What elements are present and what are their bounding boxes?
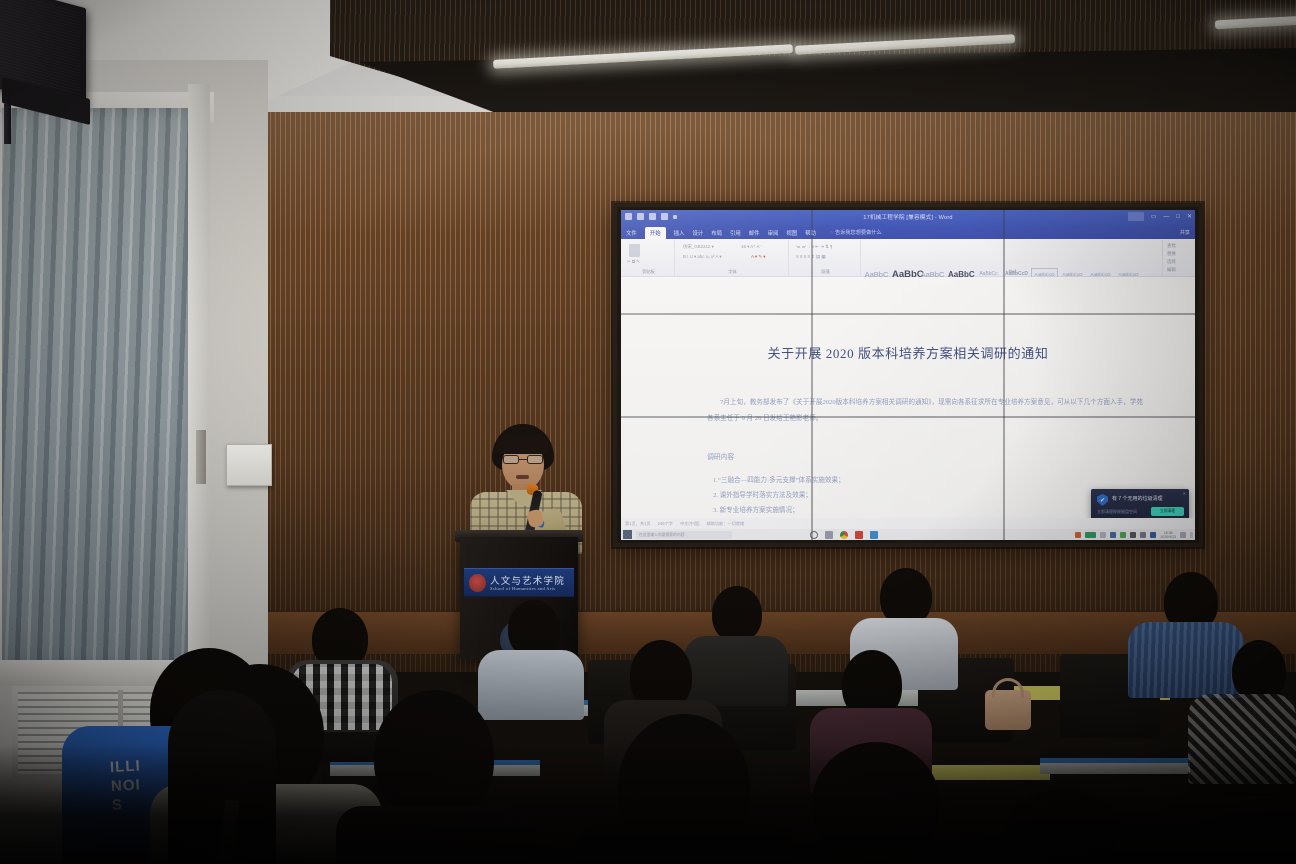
store-icon[interactable] bbox=[870, 531, 878, 539]
tab-view[interactable]: 视图 bbox=[786, 229, 797, 237]
toast-title: 有 7 个无用的垃圾清理 bbox=[1112, 495, 1163, 502]
font-name-box[interactable]: 仿宋_GB2312 ▾ bbox=[683, 244, 714, 250]
audience-white-shirt bbox=[478, 650, 584, 720]
toast-subtitle: 立即清理释放磁盘空间 bbox=[1097, 509, 1137, 515]
tab-review[interactable]: 审阅 bbox=[768, 229, 779, 237]
banner-chinese-text: 人文与艺术学院 bbox=[490, 573, 565, 587]
tell-me-search[interactable]: ◌ 告诉我您想要做什么 bbox=[830, 229, 882, 236]
bezel-seam-v2 bbox=[1003, 210, 1005, 540]
ribbon-tab-strip[interactable]: 文件 开始 插入 设计 布局 引用 邮件 审阅 视图 帮助 ◌ 告诉我您想要做什… bbox=[621, 226, 1195, 239]
accessibility-status[interactable]: 辅助功能：一切就绪 bbox=[707, 521, 745, 527]
tab-mailings[interactable]: 邮件 bbox=[749, 229, 760, 237]
taskbar-search-input[interactable]: 在这里输入你要搜索的内容 bbox=[636, 531, 732, 539]
system-tray[interactable]: 15:36 2020/9/23 bbox=[1075, 531, 1193, 539]
chevron-up-icon[interactable] bbox=[1100, 532, 1106, 538]
presenter-mouth bbox=[516, 475, 529, 479]
banner-english-text: School of Humanities and Arts bbox=[490, 586, 555, 591]
notification-toast[interactable]: ✔ 有 7 个无用的垃圾清理 立即清理释放磁盘空间 立即清理 ✕ bbox=[1091, 489, 1189, 520]
doc-section-heading: 调研内容 bbox=[707, 451, 734, 461]
list-item: 3. 新专业培养方案实施情况； bbox=[713, 503, 845, 518]
wall-notice-panel bbox=[226, 444, 272, 486]
word-count[interactable]: 246个字 bbox=[658, 521, 673, 527]
doc-heading: 关于开展 2020 版本科培养方案相关调研的通知 bbox=[621, 343, 1195, 362]
word-title-bar: 17机械工程学院 [兼容模式] - Word ▭ — □ ✕ bbox=[621, 210, 1195, 226]
speaker-mount-arm bbox=[4, 104, 11, 144]
bezel-seam-h1 bbox=[621, 313, 1195, 315]
presenter-fringe bbox=[496, 434, 550, 454]
doc-paragraph: 7月上旬，教务部发布了《关于开展2020版本科培养方案相关调研的通知》，现需向各… bbox=[707, 395, 1143, 426]
group-label-font: 字体 bbox=[677, 269, 788, 275]
audience-head bbox=[712, 586, 762, 642]
font-size-box[interactable]: 16 ▾ A⁺ A⁻ bbox=[741, 244, 762, 250]
show-desktop-button[interactable] bbox=[1190, 532, 1193, 538]
tab-file[interactable]: 文件 bbox=[626, 229, 637, 237]
video-wall-screen[interactable]: 17机械工程学院 [兼容模式] - Word ▭ — □ ✕ 文件 开始 插入 … bbox=[621, 210, 1195, 540]
windows-taskbar[interactable]: 在这里输入你要搜索的内容 15:36 2020/9/23 bbox=[621, 529, 1195, 540]
find-button[interactable]: 查找 bbox=[1167, 243, 1176, 249]
bezel-seam-h2 bbox=[621, 416, 1195, 418]
tab-home[interactable]: 开始 bbox=[645, 227, 666, 239]
podium-banner: 人文与艺术学院 School of Humanities and Arts bbox=[464, 568, 574, 597]
network-icon[interactable] bbox=[1130, 532, 1136, 538]
volume-icon[interactable] bbox=[1140, 532, 1146, 538]
foreground-shadow bbox=[0, 744, 1296, 864]
ribbon-group-paragraph[interactable]: ≔ ≕ ⋮≡ ⇤ ⇥ ⇅ ¶ ≡ ≡ ≡ ≡ ⇕ ▤ ▦ 段落 bbox=[791, 240, 861, 276]
toast-close-icon[interactable]: ✕ bbox=[1183, 491, 1186, 496]
tell-me-label: 告诉我您想要做什么 bbox=[835, 229, 882, 236]
group-label-paragraph: 段落 bbox=[791, 269, 860, 275]
taskbar-clock[interactable]: 15:36 2020/9/23 bbox=[1160, 531, 1176, 539]
share-button[interactable]: 共享 bbox=[1180, 229, 1190, 236]
language-indicator[interactable]: 中文(中国) bbox=[680, 521, 700, 527]
font-color-icon[interactable]: A ▾ ✎ ▾ bbox=[751, 254, 765, 260]
security-icon[interactable] bbox=[1110, 532, 1116, 538]
glasses-icon bbox=[503, 455, 543, 464]
shield-icon: ✔ bbox=[1097, 494, 1108, 506]
clock-date: 2020/9/23 bbox=[1160, 535, 1176, 539]
tab-references[interactable]: 引用 bbox=[730, 229, 741, 237]
ribbon-group-clipboard[interactable]: ✂ ⧉ ✎ 剪贴板 bbox=[623, 240, 675, 276]
page-count: 第1页，共1页 bbox=[625, 521, 651, 527]
select-button[interactable]: 选择 bbox=[1167, 259, 1176, 265]
tab-design[interactable]: 设计 bbox=[692, 229, 703, 237]
pdf-icon[interactable] bbox=[855, 531, 863, 539]
window-controls[interactable]: ▭ — □ ✕ bbox=[1128, 212, 1192, 221]
list-item: 1.“三融合—四能力·多元支撑”体系实施效果； bbox=[713, 473, 845, 488]
ime-cn-icon[interactable] bbox=[1150, 532, 1156, 538]
minimize-button[interactable]: — bbox=[1163, 214, 1169, 220]
start-button-icon[interactable] bbox=[623, 530, 632, 539]
university-logo-icon bbox=[469, 574, 486, 592]
list-buttons[interactable]: ≔ ≕ ⋮≡ ⇤ ⇥ ⇅ ¶ bbox=[796, 244, 832, 250]
list-item: 2. 课外指导学时落实方法及效果； bbox=[713, 488, 845, 503]
window-frame bbox=[188, 84, 210, 664]
group-label-clipboard: 剪贴板 bbox=[623, 269, 674, 275]
tab-insert[interactable]: 插入 bbox=[674, 229, 685, 237]
font-style-buttons[interactable]: B I U ▾ abc x₂ x² A ▾ bbox=[683, 254, 722, 260]
replace-button[interactable]: 替换 bbox=[1167, 251, 1176, 257]
account-button[interactable] bbox=[1128, 212, 1144, 221]
paste-icon[interactable] bbox=[629, 244, 640, 257]
task-view-icon[interactable] bbox=[825, 531, 833, 539]
audience-body bbox=[684, 636, 788, 706]
document-title-text: 17机械工程学院 [兼容模式] - Word bbox=[621, 213, 1195, 221]
sync-icon[interactable] bbox=[1120, 532, 1126, 538]
chrome-icon[interactable] bbox=[840, 531, 848, 539]
battery-icon[interactable] bbox=[1085, 532, 1096, 538]
notification-icon[interactable] bbox=[1180, 532, 1186, 538]
clipboard-tools[interactable]: ✂ ⧉ ✎ bbox=[627, 259, 640, 265]
toast-action-button[interactable]: 立即清理 bbox=[1151, 507, 1184, 516]
maximize-button[interactable]: □ bbox=[1176, 214, 1180, 220]
window-curtain bbox=[2, 108, 202, 668]
handbag-handle bbox=[992, 678, 1024, 698]
bezel-seam-v1 bbox=[811, 210, 813, 540]
lecture-hall-scene: 17机械工程学院 [兼容模式] - Word ▭ — □ ✕ 文件 开始 插入 … bbox=[0, 0, 1296, 864]
audience-blue-polo bbox=[1128, 622, 1244, 698]
ribbon-options-button[interactable]: ▭ bbox=[1151, 213, 1157, 220]
wall-trim-strip bbox=[196, 430, 206, 484]
ime-icon[interactable] bbox=[1075, 532, 1081, 538]
audience-head bbox=[1232, 640, 1286, 702]
tab-layout[interactable]: 布局 bbox=[711, 229, 722, 237]
ribbon-group-font[interactable]: 仿宋_GB2312 ▾ 16 ▾ A⁺ A⁻ B I U ▾ abc x₂ x²… bbox=[677, 240, 789, 276]
ribbon-body[interactable]: ✂ ⧉ ✎ 剪贴板 仿宋_GB2312 ▾ 16 ▾ A⁺ A⁻ B I U ▾… bbox=[621, 239, 1195, 277]
ribbon-group-editing[interactable]: 查找 替换 选择 编辑 bbox=[1165, 240, 1195, 276]
lightbulb-icon: ◌ bbox=[830, 230, 833, 236]
editing-button[interactable]: 编辑 bbox=[1167, 267, 1176, 273]
word-status-bar[interactable]: 第1页，共1页 246个字 中文(中国) 辅助功能：一切就绪 bbox=[621, 518, 1195, 529]
close-button[interactable]: ✕ bbox=[1187, 213, 1192, 220]
